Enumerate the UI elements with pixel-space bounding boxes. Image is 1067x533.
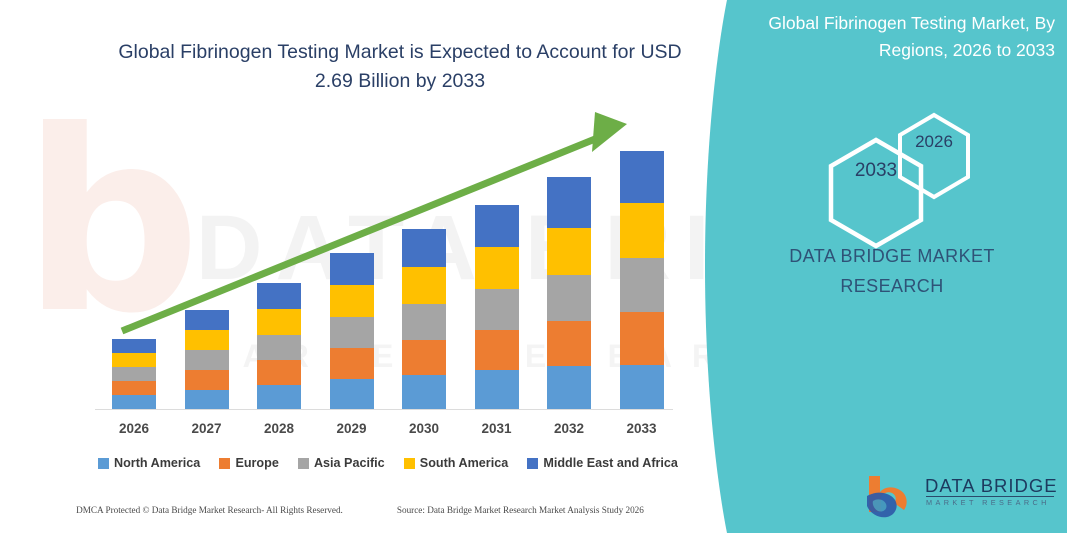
legend-item[interactable]: North America xyxy=(98,456,200,470)
chart-legend: North AmericaEuropeAsia PacificSouth Ame… xyxy=(98,456,678,470)
footer-source: Source: Data Bridge Market Research Mark… xyxy=(397,505,644,515)
infographic-page: b DATA BRIDGE MARKET RESEARCH Global Fib… xyxy=(0,0,1067,533)
panel-brand-line2: RESEARCH xyxy=(727,271,1057,301)
legend-label: Middle East and Africa xyxy=(543,456,678,470)
legend-swatch xyxy=(98,458,109,469)
legend-item[interactable]: South America xyxy=(404,456,508,470)
hexagon-2033-label: 2033 xyxy=(824,160,928,182)
footer-copyright: DMCA Protected © Data Bridge Market Rese… xyxy=(76,505,343,515)
footer: DMCA Protected © Data Bridge Market Rese… xyxy=(0,505,720,515)
legend-label: North America xyxy=(114,456,200,470)
legend-label: Europe xyxy=(235,456,278,470)
legend-label: Asia Pacific xyxy=(314,456,385,470)
panel-title: Global Fibrinogen Testing Market, By Reg… xyxy=(735,10,1055,64)
panel-brand-line1: DATA BRIDGE MARKET xyxy=(727,241,1057,271)
side-panel: Global Fibrinogen Testing Market, By Reg… xyxy=(697,0,1067,533)
legend-swatch xyxy=(219,458,230,469)
brand-logo: DATA BRIDGE MARKET RESEARCH xyxy=(863,472,1063,520)
brand-logo-primary: DATA BRIDGE xyxy=(925,475,1058,497)
legend-item[interactable]: Europe xyxy=(219,456,278,470)
trend-arrow-icon xyxy=(0,0,720,460)
legend-label: South America xyxy=(420,456,508,470)
brand-logo-secondary: MARKET RESEARCH xyxy=(926,498,1050,507)
legend-item[interactable]: Asia Pacific xyxy=(298,456,385,470)
legend-swatch xyxy=(298,458,309,469)
brand-logo-icon xyxy=(863,472,921,518)
panel-brand: DATA BRIDGE MARKET RESEARCH xyxy=(727,241,1057,301)
stacked-bar-chart: 20262027202820292030203120322033 xyxy=(0,0,720,460)
hexagon-2033-icon xyxy=(824,136,928,250)
legend-item[interactable]: Middle East and Africa xyxy=(527,456,678,470)
legend-swatch xyxy=(527,458,538,469)
legend-swatch xyxy=(404,458,415,469)
brand-logo-divider xyxy=(926,496,1054,497)
